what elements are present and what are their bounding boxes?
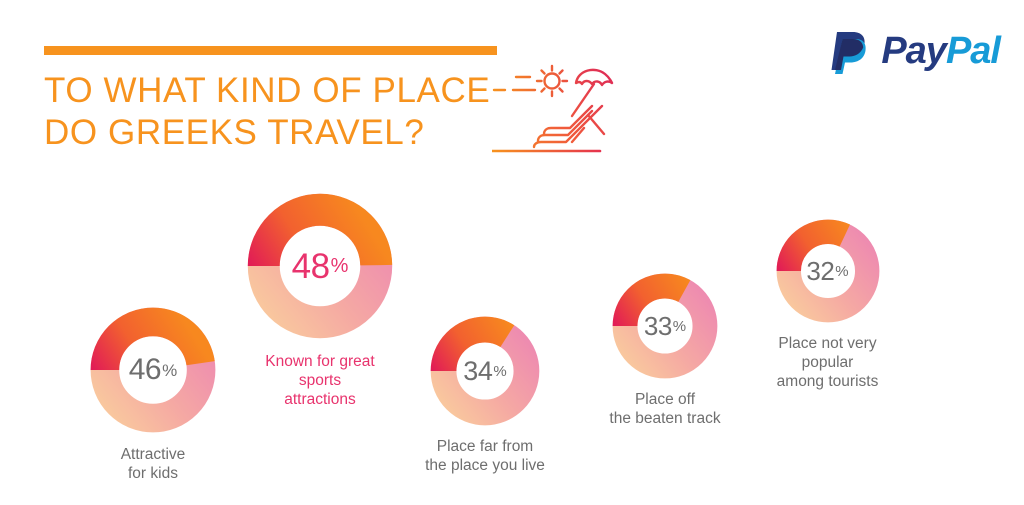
paypal-monogram-icon	[826, 28, 872, 74]
donut-chart-not-very-popular: 32% Place not very popular among tourist…	[740, 218, 915, 391]
donut-label: Attractive for kids	[121, 445, 186, 483]
sun-icon	[537, 66, 567, 96]
umbrella-icon	[572, 70, 612, 116]
title-rule	[44, 46, 497, 55]
paypal-word-pal: Pal	[946, 30, 1000, 72]
paypal-wordmark: PayPal	[881, 32, 1000, 70]
donut-chart-sports-attractions: 48% Known for great sports attractions	[232, 190, 408, 409]
donut-ring: 32%	[775, 218, 881, 324]
wind-lines-icon	[494, 77, 535, 90]
donut-ring: 34%	[429, 315, 541, 427]
donut-label: Place off the beaten track	[609, 390, 720, 428]
infographic-canvas: TO WHAT KIND OF PLACE DO GREEKS TRAVEL?	[0, 0, 1024, 505]
donut-label: Place not very popular among tourists	[777, 334, 879, 391]
donut-chart-attractive-for-kids: 46% Attractive for kids	[64, 305, 242, 483]
paypal-word-pay: Pay	[881, 30, 946, 72]
paypal-logo: PayPal	[826, 28, 1000, 74]
donut-ring: 48%	[244, 190, 396, 342]
donut-chart-far-from-home: 34% Place far from the place you live	[398, 315, 572, 475]
donut-label: Known for great sports attractions	[265, 352, 374, 409]
donut-label: Place far from the place you live	[425, 437, 545, 475]
beach-scene-illustration	[492, 58, 632, 158]
lounge-chair-icon	[534, 106, 604, 147]
donut-ring: 33%	[611, 272, 719, 380]
donut-ring: 46%	[88, 305, 218, 435]
donut-chart-off-beaten-track: 33% Place off the beaten track	[583, 272, 747, 428]
